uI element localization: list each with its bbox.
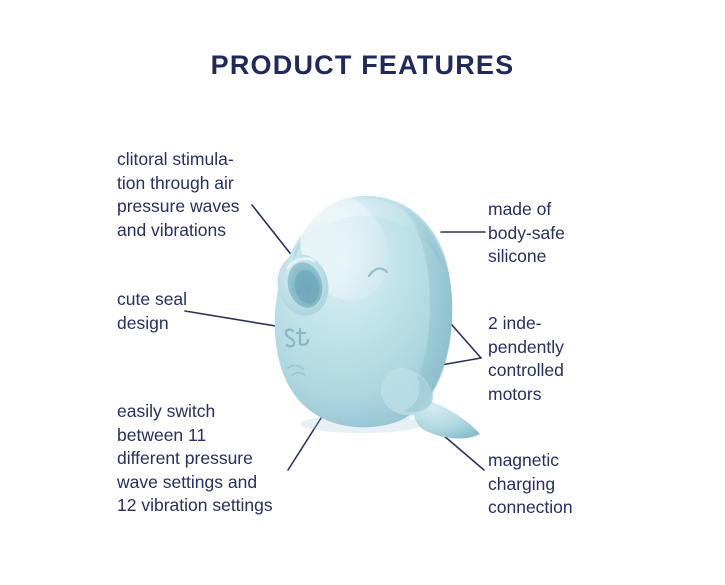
callout-magnetic-charging: magnetic charging connection bbox=[488, 449, 668, 520]
callout-clitoral-stimulation: clitoral stimula- tion through air press… bbox=[117, 148, 287, 242]
callout-independent-motors: 2 inde- pendently controlled motors bbox=[488, 312, 658, 406]
callout-settings-switch: easily switch between 11 different press… bbox=[117, 400, 317, 518]
contact-shadow bbox=[300, 415, 424, 433]
callout-body-safe-silicone: made of body-safe silicone bbox=[488, 198, 658, 269]
callout-seal-design: cute seal design bbox=[117, 288, 267, 335]
product-features-infographic: PRODUCT FEATURES bbox=[0, 0, 725, 585]
leader-line-magnetic bbox=[443, 435, 484, 470]
